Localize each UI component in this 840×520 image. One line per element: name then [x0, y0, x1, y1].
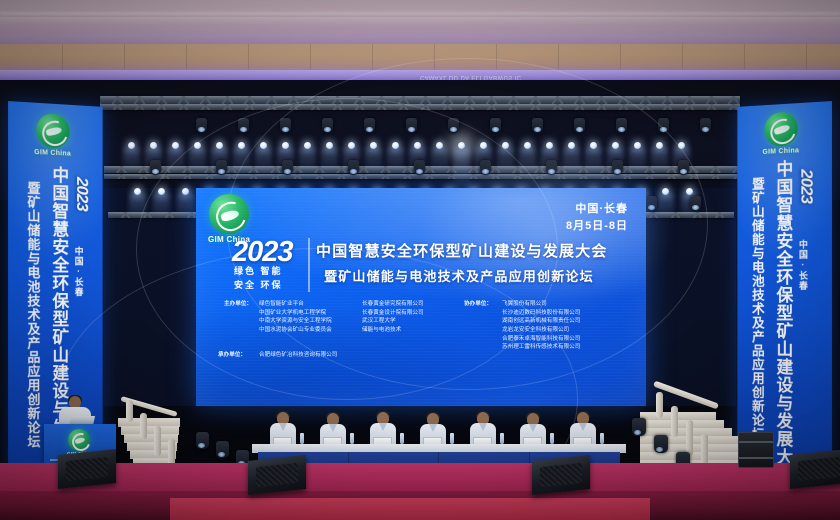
- stage-carpet: [0, 463, 840, 493]
- sponsor-host-item: 长春黄金设计院有限公司: [362, 309, 424, 318]
- sponsor-host-item: 武汉工程大学: [362, 317, 424, 326]
- banner-right-logo-text: GIM China: [762, 147, 799, 156]
- stair-baluster: [686, 420, 693, 456]
- sponsor-organizer-label: 承办单位：: [218, 351, 246, 360]
- banner-right-logo: GIM China: [762, 111, 799, 156]
- stage-monitor-speaker: [248, 455, 306, 495]
- wall-seam: [682, 44, 683, 72]
- water-bottle: [550, 433, 554, 444]
- screen-slogan-line1: 绿色 智能: [234, 266, 283, 277]
- sponsor-coorg-item: 苏州理工雷科传感技术有限公司: [502, 343, 580, 352]
- wall-seam: [62, 44, 63, 72]
- stair-baluster: [656, 392, 663, 418]
- banner-left-title-line2: 暨矿山储能与电池技术及产品应用创新论坛: [26, 181, 39, 449]
- screen-dates: 8月5日-8日: [566, 217, 628, 233]
- banner-left-logo: GIM China: [34, 113, 71, 158]
- wall-seam: [124, 44, 125, 72]
- banner-right-year: 2023: [798, 169, 815, 204]
- water-bottle: [350, 433, 354, 444]
- red-carpet-runner: [170, 498, 650, 520]
- wall-seam: [806, 44, 807, 72]
- moving-head-light: [700, 118, 711, 133]
- conference-stage-photo: CAMAXL DD DA ELI GABWUS IC GIM China 202…: [0, 0, 840, 520]
- gim-swoosh-icon: [209, 194, 249, 234]
- sponsor-host-item: 长春黄金研究院有限公司: [362, 300, 424, 309]
- screen-title-line2: 暨矿山储能与电池技术及产品应用创新论坛: [324, 266, 594, 285]
- sponsor-host-column-2: 长春黄金研究院有限公司长春黄金设计院有限公司武汉工程大学储能与电池技术: [362, 300, 424, 335]
- wall-seam: [248, 44, 249, 72]
- sponsor-host-item: 中国矿业大学机电工程学院: [259, 309, 332, 318]
- wall-seam: [186, 44, 187, 72]
- sponsor-host-item: 储能与电池技术: [362, 326, 424, 335]
- wall-seam: [310, 44, 311, 72]
- organizer-label-text: 承办单位：: [218, 352, 246, 358]
- water-bottle: [300, 433, 304, 444]
- banner-left-year: 2023: [74, 177, 91, 211]
- floor-moving-head-light: [654, 435, 668, 453]
- sponsor-host-item: 中国水泥协会矿山专业委员会: [259, 326, 332, 335]
- moving-head-light: [196, 118, 207, 133]
- stage-monitor-speaker: [790, 449, 840, 489]
- gim-swoosh-icon: [36, 113, 70, 149]
- stair-baluster: [140, 413, 147, 439]
- sponsor-host-label: 主办单位：: [224, 300, 252, 309]
- gim-swoosh-icon: [68, 429, 90, 451]
- sponsor-host-item: 中南大学资源与安全工程学院: [259, 317, 332, 326]
- wall-seam: [558, 44, 559, 72]
- coorg-label-text: 协办单位：: [464, 301, 492, 307]
- stage-monitor-speaker: [58, 449, 116, 489]
- banner-right-location: 中国·长春: [798, 240, 807, 291]
- floor-moving-head-light: [196, 432, 209, 449]
- banner-left-logo-text: GIM China: [34, 149, 71, 158]
- stair-baluster: [671, 406, 678, 437]
- sponsor-coorg-item: 长沙迪迈数码科技股份有限公司: [502, 309, 580, 318]
- floor-moving-head-light: [216, 441, 229, 458]
- stage-monitor-speaker: [532, 455, 590, 495]
- sponsor-coorg-item: 龙岩龙安安全科技有限公司: [502, 326, 580, 335]
- sponsor-coorg-item: 湖南创远高新机械有限责任公司: [502, 317, 580, 326]
- screen-title-divider: [308, 238, 310, 292]
- screen-slogan-line2: 安全 环保: [234, 280, 283, 291]
- screen-year: 2023: [232, 236, 293, 269]
- banner-right-title-line2: 暨矿山储能与电池技术及产品应用创新论坛: [751, 177, 764, 441]
- main-led-screen: GIM China 中国·长春 8月5日-8日 2023 绿色 智能 安全 环保…: [196, 188, 646, 406]
- sponsor-coorg-item: 合肥泰禾卓海智能科技有限公司: [502, 335, 580, 344]
- wall-seam: [372, 44, 373, 72]
- moving-head-light: [150, 160, 161, 175]
- sponsor-organizer: 合肥绿色矿冶科技咨询有限公司: [259, 351, 337, 360]
- wall-seam: [620, 44, 621, 72]
- screen-location: 中国·长春: [575, 200, 628, 216]
- stair-baluster: [154, 426, 161, 456]
- gim-swoosh-icon: [764, 111, 797, 147]
- water-bottle: [600, 433, 604, 444]
- floor-moving-head-light: [632, 418, 646, 436]
- wall-seam: [744, 44, 745, 72]
- ceiling-light-cove: [0, 17, 840, 25]
- host-label-text: 主办单位：: [224, 301, 252, 307]
- water-bottle: [500, 433, 504, 444]
- sponsor-coorg-item: 飞翼股份有限公司: [502, 300, 580, 309]
- light-beam: [123, 148, 140, 174]
- banner-left-location: 中国·长春: [74, 246, 83, 297]
- screen-title-line1: 中国智慧安全环保型矿山建设与发展大会: [316, 240, 608, 261]
- banner-right-title-line1: 中国智慧安全环保型矿山建设与发展大会: [774, 160, 791, 485]
- water-bottle: [400, 433, 404, 444]
- sponsor-host-column-1: 绿色智能矿业平台中国矿业大学机电工程学院中南大学资源与安全工程学院中国水泥协会矿…: [259, 300, 332, 335]
- water-bottle: [450, 433, 454, 444]
- stair-baluster: [126, 400, 133, 422]
- sponsor-coorg-label: 协办单位：: [464, 300, 492, 309]
- sponsor-coorg-column: 飞翼股份有限公司长沙迪迈数码科技股份有限公司湖南创远高新机械有限责任公司龙岩龙安…: [502, 300, 580, 352]
- sponsor-host-item: 绿色智能矿业平台: [259, 300, 332, 309]
- equipment-flight-case: [738, 432, 774, 468]
